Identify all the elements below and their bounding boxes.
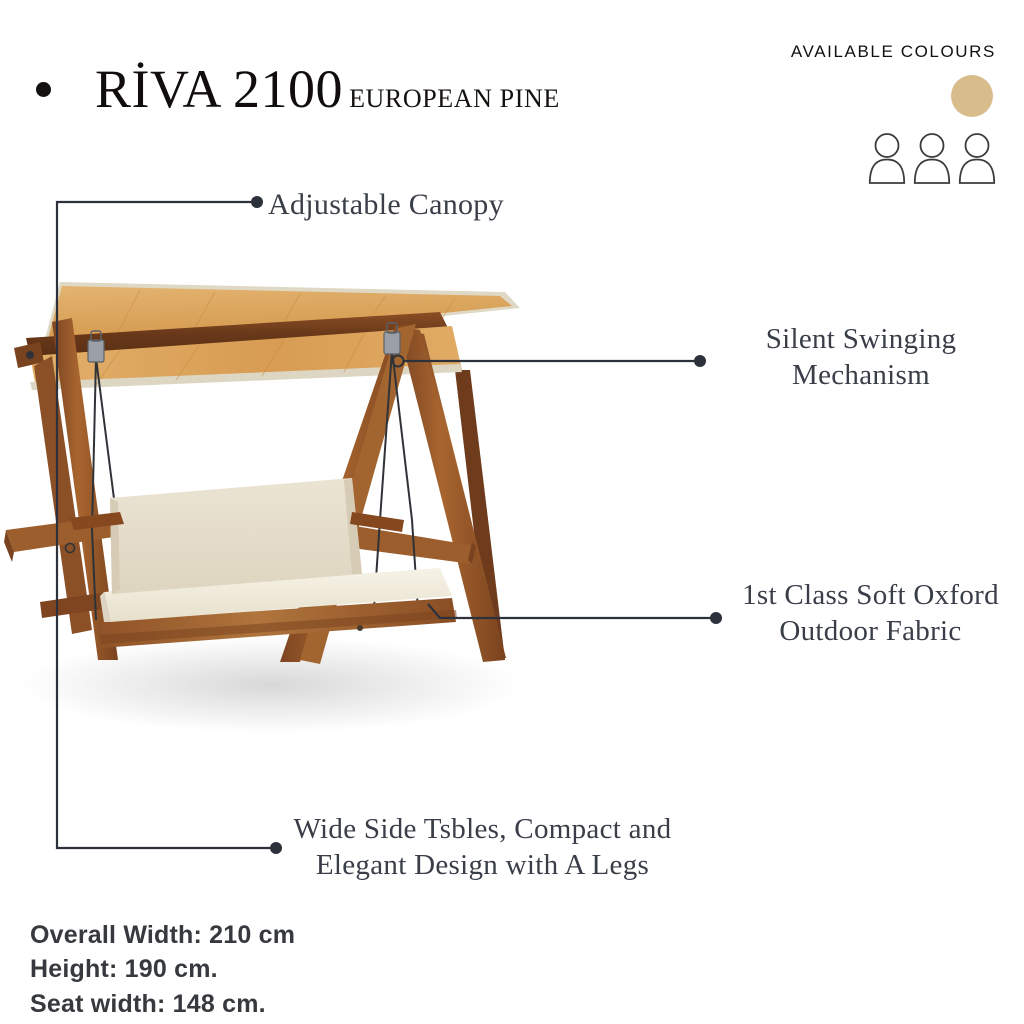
page-title: RİVA 2100 EUROPEAN PINE <box>36 62 560 116</box>
person-icon <box>868 132 906 189</box>
feature-line: Wide Side Tsbles, Compact and <box>290 812 675 848</box>
dimension-overall-width: Overall Width: 210 cm <box>30 918 295 952</box>
feature-line: Outdoor Fabric <box>728 614 1013 650</box>
feature-label-wide-side-tables: Wide Side Tsbles, Compact and Elegant De… <box>290 812 675 883</box>
colour-swatch-row <box>791 75 993 117</box>
feature-line: Adjustable Canopy <box>268 188 504 222</box>
available-colours-block: AVAILABLE COLOURS <box>791 42 996 189</box>
leader-dot-canopy <box>251 196 263 208</box>
dimension-height: Height: 190 cm. <box>30 952 295 986</box>
leader-dot-fabric <box>710 612 722 624</box>
capacity-icon-row <box>791 132 996 189</box>
feature-line: Mechanism <box>716 358 1006 394</box>
feature-label-silent-swinging-mechanism: Silent Swinging Mechanism <box>716 322 1006 393</box>
available-colours-title: AVAILABLE COLOURS <box>791 42 996 62</box>
dimensions-block: Overall Width: 210 cm Height: 190 cm. Se… <box>30 918 295 1021</box>
product-image <box>0 230 560 760</box>
feature-line: Silent Swinging <box>716 322 1006 358</box>
product-spec-sheet: RİVA 2100 EUROPEAN PINE AVAILABLE COLOUR… <box>0 0 1024 1024</box>
material-name: EUROPEAN PINE <box>349 86 560 112</box>
person-icon <box>958 132 996 189</box>
person-icon <box>913 132 951 189</box>
leader-dot-tables <box>270 842 282 854</box>
model-name: RİVA 2100 <box>95 62 343 116</box>
feature-label-adjustable-canopy: Adjustable Canopy <box>268 188 504 222</box>
feature-line: Elegant Design with A Legs <box>290 848 675 884</box>
title-bullet-icon <box>36 82 51 97</box>
leader-dot-mechanism <box>694 355 706 367</box>
dimension-seat-width: Seat width: 148 cm. <box>30 987 295 1021</box>
feature-line: 1st Class Soft Oxford <box>728 578 1013 614</box>
colour-swatch-beige[interactable] <box>951 75 993 117</box>
feature-label-soft-oxford-fabric: 1st Class Soft Oxford Outdoor Fabric <box>728 578 1013 649</box>
